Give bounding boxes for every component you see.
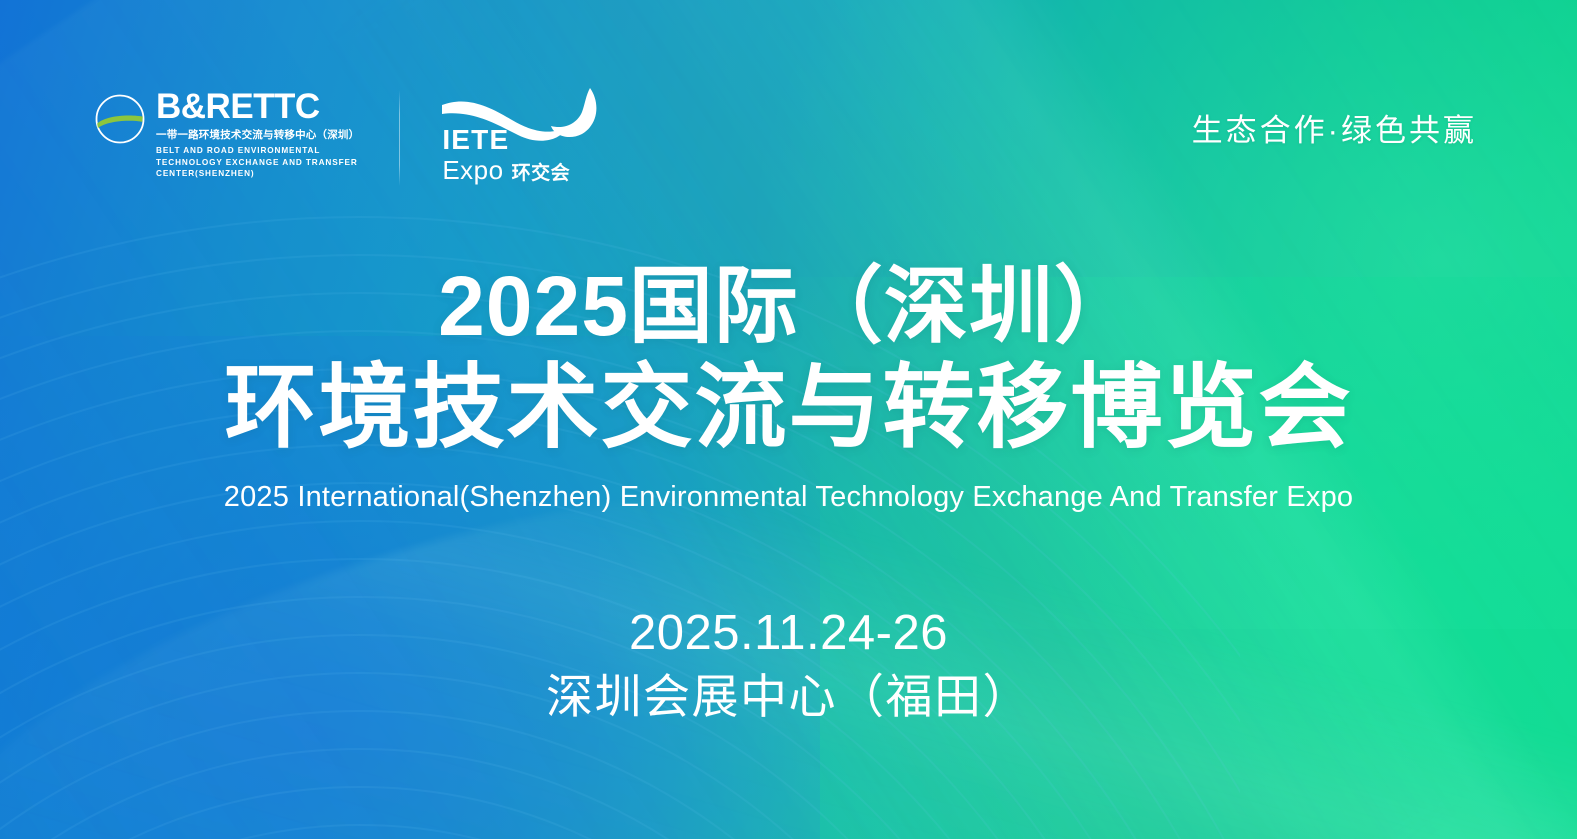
banner-content: B&RETTC 一带一路环境技术交流与转移中心（深圳） BELT AND ROA…: [0, 0, 1577, 839]
brettc-name-en: BELT AND ROAD ENVIRONMENTAL TECHNOLOGY E…: [156, 145, 359, 180]
circle-globe-icon: [93, 92, 147, 146]
brettc-name-en-line1: BELT AND ROAD ENVIRONMENTAL: [156, 145, 359, 157]
iete-expo-logo: IETE Expo 环交会: [440, 86, 605, 186]
expo-banner: B&RETTC 一带一路环境技术交流与转移中心（深圳） BELT AND ROA…: [0, 0, 1577, 839]
iete-line1: IETE: [442, 126, 570, 154]
brettc-text-block: B&RETTC 一带一路环境技术交流与转移中心（深圳） BELT AND ROA…: [156, 88, 359, 180]
headline-block: 2025国际（深圳） 环境技术交流与转移博览会 2025 Internation…: [0, 262, 1577, 515]
brettc-name-en-line2: TECHNOLOGY EXCHANGE AND TRANSFER: [156, 157, 359, 169]
iete-line2-cn: 环交会: [512, 164, 571, 183]
logo-divider: [399, 90, 400, 186]
headline-subtitle-en: 2025 International(Shenzhen) Environment…: [0, 480, 1577, 515]
headline-line1: 2025国际（深圳）: [0, 262, 1577, 351]
tagline: 生态合作·绿色共赢: [1192, 105, 1477, 150]
brettc-name-en-line3: CENTER(SHENZHEN): [156, 168, 359, 180]
event-venue: 深圳会展中心（福田）: [0, 669, 1577, 724]
iete-line2: Expo: [442, 157, 503, 183]
logo-row: B&RETTC 一带一路环境技术交流与转移中心（深圳） BELT AND ROA…: [93, 88, 605, 186]
headline-line2: 环境技术交流与转移博览会: [0, 359, 1577, 458]
iete-line2-row: Expo 环交会: [442, 157, 570, 183]
brettc-logo: B&RETTC 一带一路环境技术交流与转移中心（深圳） BELT AND ROA…: [93, 88, 359, 180]
event-date: 2025.11.24-26: [0, 605, 1577, 663]
event-info-block: 2025.11.24-26 深圳会展中心（福田）: [0, 605, 1577, 724]
brettc-wordmark: B&RETTC: [156, 89, 359, 124]
iete-text-block: IETE Expo 环交会: [442, 126, 570, 183]
brettc-name-cn: 一带一路环境技术交流与转移中心（深圳）: [156, 129, 359, 142]
